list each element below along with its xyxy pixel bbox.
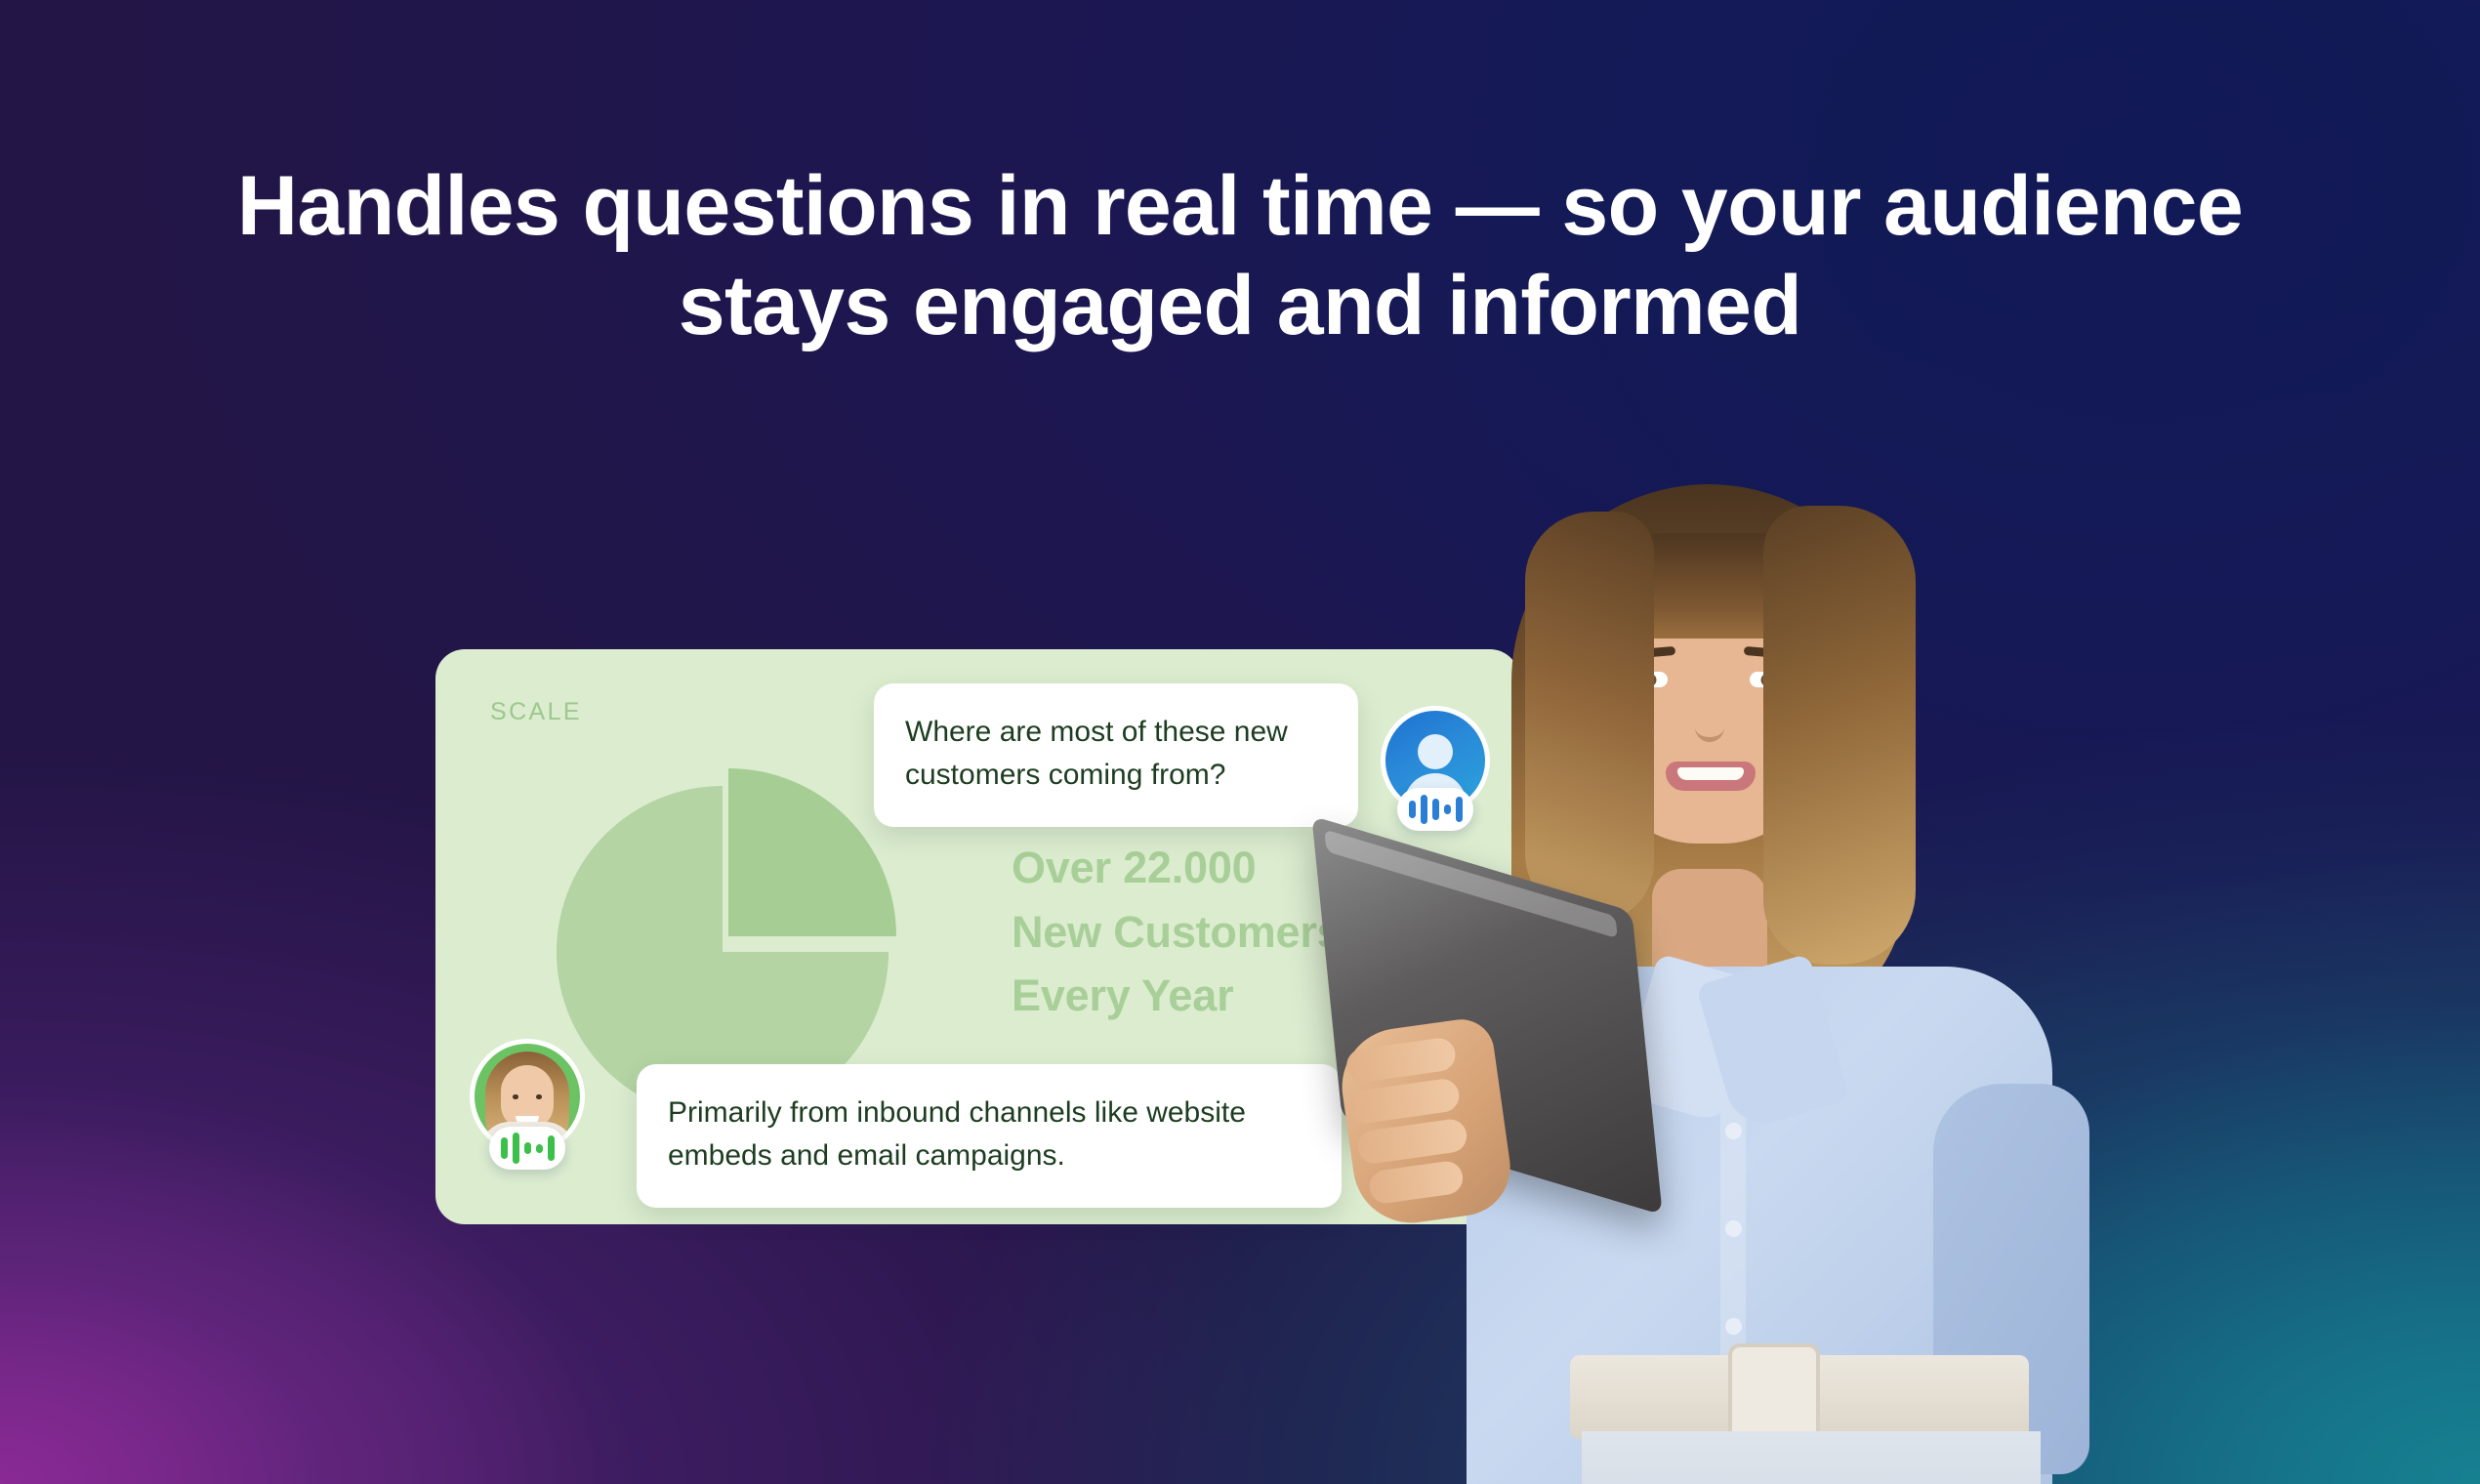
- finger: [1344, 1036, 1458, 1084]
- avatar-eye-left: [536, 1094, 542, 1099]
- headline-line-1: Handles questions in real time — so your…: [237, 159, 2243, 253]
- finger: [1348, 1077, 1462, 1125]
- promo-hero-screenshot: Handles questions in real time — so your…: [0, 0, 2480, 1484]
- finger: [1356, 1117, 1469, 1165]
- audio-waveform-icon: [489, 1127, 565, 1170]
- chat-bubble-answer: Primarily from inbound channels like web…: [637, 1064, 1342, 1208]
- trousers: [1582, 1431, 2041, 1484]
- shirt-button: [1725, 1220, 1742, 1237]
- shirt-button: [1725, 1123, 1742, 1139]
- hair-front-left: [1525, 512, 1654, 922]
- teeth: [1677, 767, 1744, 780]
- headline-line-2: stays engaged and informed: [679, 259, 1801, 352]
- pie-slice-highlighted: [728, 768, 896, 936]
- nose: [1695, 701, 1724, 742]
- avatar: [470, 1039, 585, 1154]
- card-eyebrow-label: SCALE: [490, 698, 582, 726]
- finger: [1367, 1159, 1465, 1205]
- hair-front-right: [1763, 506, 1916, 965]
- shirt-button: [1725, 1318, 1742, 1335]
- hero-person-photo: [1406, 478, 2109, 1484]
- chat-bubble-question: Where are most of these new customers co…: [874, 683, 1358, 827]
- avatar-eye-right: [513, 1094, 518, 1099]
- page-title: Handles questions in real time — so your…: [176, 156, 2304, 356]
- avatar-face: [501, 1065, 554, 1130]
